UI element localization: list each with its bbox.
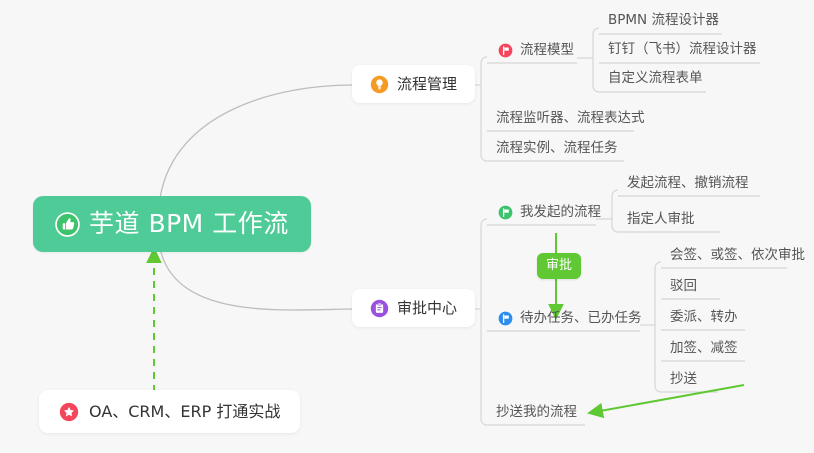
spine-process-model <box>593 28 599 92</box>
item-label-my-started-process: 我发起的流程 <box>520 203 601 221</box>
branch-label-approval-center: 审批中心 <box>397 298 457 318</box>
spine-approval-center <box>481 219 487 425</box>
mindmap-canvas: 芋道 BPM 工作流 流程管理 流程模型 BPMN 流程设计器 <box>0 0 814 453</box>
connector-root-to-process-management <box>160 85 352 198</box>
item-my-started-process[interactable]: 我发起的流程 <box>490 203 609 227</box>
item-label-bpmn-designer: BPMN 流程设计器 <box>608 11 719 29</box>
thumbs-up-icon <box>55 212 80 237</box>
note-node-integration[interactable]: OA、CRM、ERP 打通实战 <box>39 390 300 433</box>
item-dingtalk-designer[interactable]: 钉钉（飞书）流程设计器 <box>600 40 765 64</box>
spine-my-started-process <box>612 190 618 232</box>
branch-node-approval-center[interactable]: 审批中心 <box>352 289 475 327</box>
item-custom-form[interactable]: 自定义流程表单 <box>600 69 711 93</box>
item-cc-my-process[interactable]: 抄送我的流程 <box>488 403 585 427</box>
branch-label-process-management: 流程管理 <box>397 74 457 94</box>
spine-todo-done-tasks <box>655 262 661 392</box>
item-countersign[interactable]: 会签、或签、依次审批 <box>662 246 813 270</box>
item-addsign[interactable]: 加签、减签 <box>662 339 746 363</box>
item-label-assign-approver: 指定人审批 <box>627 210 695 228</box>
item-delegate[interactable]: 委派、转办 <box>662 308 746 332</box>
item-bpmn-designer[interactable]: BPMN 流程设计器 <box>600 11 727 35</box>
item-label-process-model: 流程模型 <box>520 41 574 59</box>
item-label-countersign: 会签、或签、依次审批 <box>670 246 805 264</box>
lightbulb-icon <box>370 75 389 94</box>
branch-node-process-management[interactable]: 流程管理 <box>352 65 475 103</box>
root-node[interactable]: 芋道 BPM 工作流 <box>33 196 311 252</box>
item-label-cc-my-process: 抄送我的流程 <box>496 403 577 421</box>
item-label-cc: 抄送 <box>670 370 697 388</box>
item-label-dingtalk-designer: 钉钉（飞书）流程设计器 <box>608 40 757 58</box>
note-label-integration: OA、CRM、ERP 打通实战 <box>89 401 280 422</box>
spine-process-management <box>481 57 487 161</box>
item-label-custom-form: 自定义流程表单 <box>608 69 703 87</box>
flag-icon <box>498 311 513 326</box>
item-process-instance[interactable]: 流程实例、流程任务 <box>488 139 626 163</box>
item-label-reject: 驳回 <box>670 277 697 295</box>
item-label-process-listener: 流程监听器、流程表达式 <box>496 109 645 127</box>
item-todo-done-tasks[interactable]: 待办任务、已办任务 <box>490 309 650 333</box>
item-label-addsign: 加签、减签 <box>670 339 738 357</box>
flag-icon <box>498 205 513 220</box>
item-label-process-instance: 流程实例、流程任务 <box>496 139 618 157</box>
clipboard-icon <box>370 299 389 318</box>
item-reject[interactable]: 驳回 <box>662 277 705 301</box>
item-process-listener[interactable]: 流程监听器、流程表达式 <box>488 109 653 133</box>
item-start-cancel-process[interactable]: 发起流程、撤销流程 <box>619 174 757 198</box>
root-label: 芋道 BPM 工作流 <box>89 209 289 239</box>
approval-badge-label: 审批 <box>546 258 572 273</box>
connector-root-to-approval-center <box>160 248 352 310</box>
item-label-delegate: 委派、转办 <box>670 308 738 326</box>
approval-badge[interactable]: 审批 <box>537 253 581 279</box>
flag-icon <box>498 43 513 58</box>
item-assign-approver[interactable]: 指定人审批 <box>619 210 703 234</box>
star-icon <box>59 402 79 422</box>
item-process-model[interactable]: 流程模型 <box>490 41 582 65</box>
item-label-todo-done-tasks: 待办任务、已办任务 <box>520 309 642 327</box>
item-cc[interactable]: 抄送 <box>662 370 705 394</box>
item-label-start-cancel-process: 发起流程、撤销流程 <box>627 174 749 192</box>
